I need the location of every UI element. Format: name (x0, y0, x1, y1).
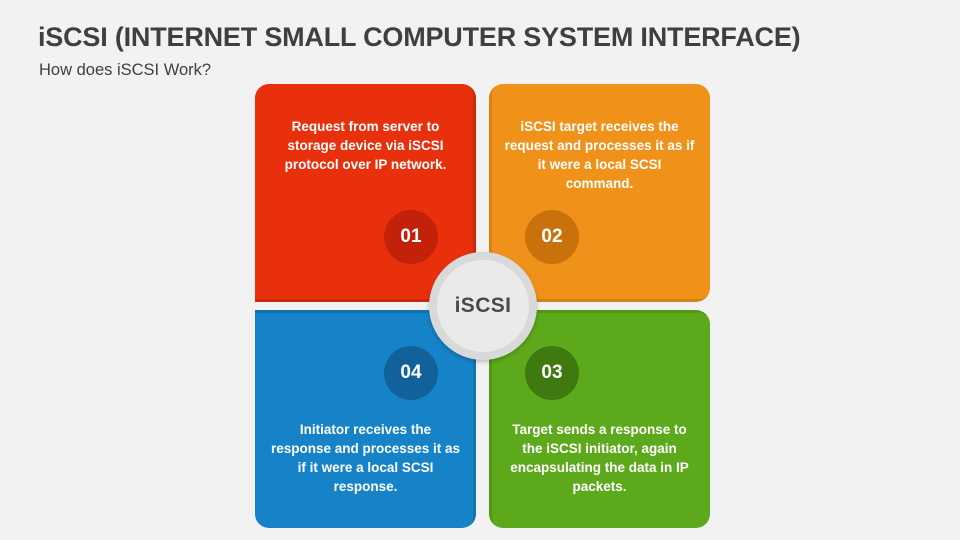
step-number-badge-04: 04 (384, 346, 438, 400)
slide: iSCSI (INTERNET SMALL COMPUTER SYSTEM IN… (0, 0, 960, 540)
step-text-03: Target sends a response to the iSCSI ini… (503, 420, 696, 496)
step-number-badge-02: 02 (525, 210, 579, 264)
step-number-badge-01: 01 (384, 210, 438, 264)
step-text-01: Request from server to storage device vi… (269, 117, 462, 174)
iscsi-workflow-diagram: Request from server to storage device vi… (255, 84, 710, 528)
center-hub: iSCSI (429, 252, 537, 360)
step-number-badge-03: 03 (525, 346, 579, 400)
center-hub-label: iSCSI (437, 260, 529, 352)
page-subtitle: How does iSCSI Work? (39, 61, 211, 80)
page-title: iSCSI (INTERNET SMALL COMPUTER SYSTEM IN… (38, 22, 800, 53)
step-text-04: Initiator receives the response and proc… (269, 420, 462, 496)
step-text-02: iSCSI target receives the request and pr… (503, 117, 696, 193)
